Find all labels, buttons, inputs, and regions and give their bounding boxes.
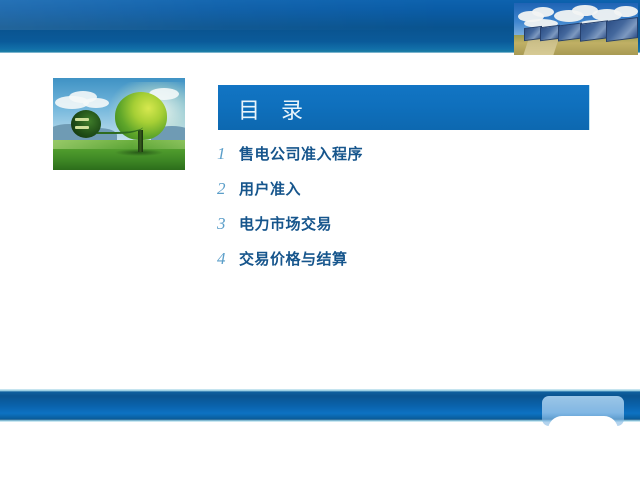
solar-panel-photo: [514, 3, 638, 55]
plug-prong: [75, 118, 89, 121]
power-plug: [71, 110, 101, 138]
solar-panel-shape: [540, 25, 560, 41]
toc-item-label: 电力市场交易: [239, 213, 332, 234]
cloud-shape: [83, 98, 109, 108]
cloud-shape: [532, 7, 554, 17]
toc-item-label: 交易价格与结算: [239, 248, 348, 269]
toc-item-4[interactable]: 4 交易价格与结算: [215, 248, 615, 283]
toc-item-3[interactable]: 3 电力市场交易: [215, 213, 615, 248]
tree-trunk: [138, 130, 143, 152]
solar-panel-shape: [580, 20, 608, 41]
toc-item-label: 用户准入: [239, 178, 301, 199]
toc-item-number: 1: [215, 144, 239, 164]
toc-item-label: 售电公司准入程序: [239, 143, 363, 164]
section-title-band: 目 录: [218, 85, 590, 130]
solar-panel-shape: [606, 17, 638, 42]
presentation-slide: 目 录 1 售电公司准入程序 2 用户准入 3 电力市场交易 4 交易价格与结算: [0, 0, 640, 480]
solar-photo-path: [523, 39, 558, 55]
toc-item-number: 4: [215, 249, 239, 269]
plug-prong: [75, 126, 89, 129]
cloud-shape: [614, 6, 638, 17]
toc-item-2[interactable]: 2 用户准入: [215, 178, 615, 213]
tree-photo-grass-highlight: [53, 140, 185, 149]
table-of-contents: 1 售电公司准入程序 2 用户准入 3 电力市场交易 4 交易价格与结算: [215, 143, 615, 283]
toc-item-number: 3: [215, 214, 239, 234]
toc-item-1[interactable]: 1 售电公司准入程序: [215, 143, 615, 178]
eco-tree-photo: [53, 78, 185, 170]
page-title: 目 录: [238, 93, 310, 125]
toc-item-number: 2: [215, 179, 239, 199]
bottom-accent-shape-cutout: [548, 416, 618, 430]
solar-panel-shape: [558, 23, 582, 42]
